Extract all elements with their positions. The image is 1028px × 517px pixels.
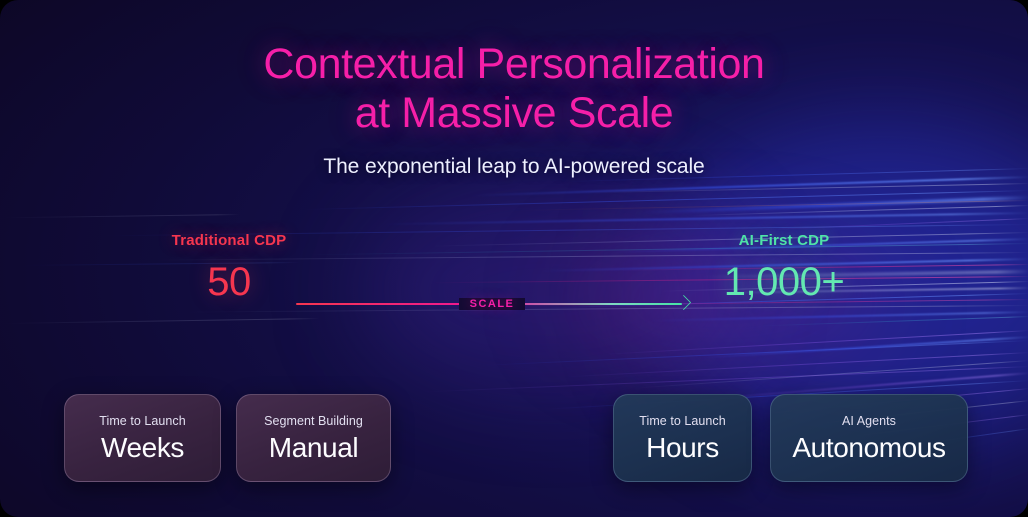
metric-card-row: Time to Launch Weeks Segment Building Ma… [0, 394, 1028, 482]
ai-first-cdp-stat: AI-First CDP 1,000+ [694, 232, 874, 303]
metric-card-value: Manual [269, 433, 358, 463]
ai-first-cdp-value: 1,000+ [694, 261, 874, 303]
metric-card-time-to-launch-ai: Time to Launch Hours [613, 394, 752, 482]
metric-card-key: Time to Launch [639, 414, 725, 428]
metric-card-value: Hours [646, 433, 719, 463]
metric-card-ai-agents: AI Agents Autonomous [770, 394, 968, 482]
page-title: Contextual Personalization at Massive Sc… [0, 40, 1028, 138]
metric-card-key: AI Agents [842, 414, 896, 428]
traditional-cdp-label: Traditional CDP [140, 232, 318, 249]
ai-first-cdp-label: AI-First CDP [694, 232, 874, 249]
page-subtitle: The exponential leap to AI-powered scale [0, 155, 1028, 179]
metric-card-key: Segment Building [264, 414, 363, 428]
metric-card-time-to-launch-traditional: Time to Launch Weeks [64, 394, 221, 482]
metric-card-key: Time to Launch [99, 414, 185, 428]
comparison-band: Traditional CDP 50 SCALE AI-First CDP 1,… [0, 232, 1028, 322]
scale-connector: SCALE [296, 294, 688, 314]
traditional-cdp-value: 50 [140, 261, 318, 303]
scale-label: SCALE [459, 298, 526, 310]
arrow-right-icon [676, 295, 692, 311]
traditional-cdp-stat: Traditional CDP 50 [140, 232, 318, 303]
metric-card-value: Weeks [101, 433, 184, 463]
metric-card-value: Autonomous [792, 433, 945, 463]
metric-card-segment-building-traditional: Segment Building Manual [236, 394, 391, 482]
hero-slide: Contextual Personalization at Massive Sc… [0, 0, 1028, 517]
